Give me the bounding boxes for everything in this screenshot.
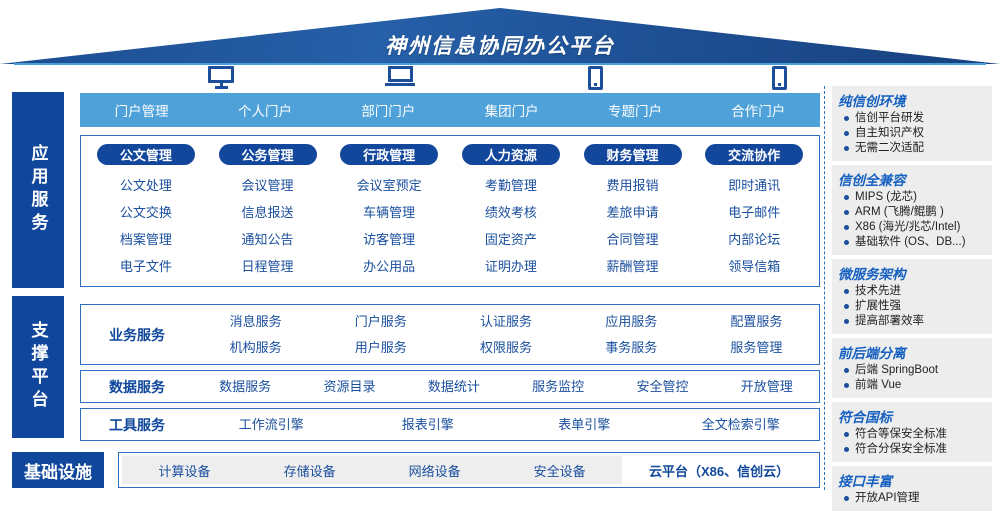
highlight-block: 微服务架构技术先进扩展性强提高部署效率 [832,259,992,334]
device-icon-row [80,64,820,91]
service-item[interactable]: 数据服务 [193,372,297,402]
module-item[interactable]: 领导信箱 [728,253,780,280]
highlight-list-item: MIPS (龙芯) [838,190,986,205]
bullet-dot-icon [844,383,849,388]
highlight-block: 纯信创环境信创平台研发自主知识产权无需二次适配 [832,86,992,161]
service-item[interactable]: 认证服务 [443,309,568,335]
service-item[interactable]: 服务监控 [506,372,610,402]
service-item[interactable]: 开放管理 [715,372,819,402]
highlight-list-item: 提高部署效率 [838,314,986,329]
rail-application-services: 应用服务 [12,92,64,288]
highlight-item-label: X86 (海光/兆芯/Intel) [855,220,960,235]
rail-support-platform: 支撑平台 [12,296,64,438]
module-item[interactable]: 公文交换 [120,199,172,226]
bullet-dot-icon [844,116,849,121]
module-item[interactable]: 会议管理 [242,172,294,199]
module-item[interactable]: 通知公告 [242,226,294,253]
highlight-list-item: 技术先进 [838,284,986,299]
highlight-list-item: 符合等保安全标准 [838,427,986,442]
bullet-dot-icon [844,240,849,245]
portal-bar: 门户管理个人门户部门门户集团门户专题门户合作门户 [80,93,820,127]
bullet-dot-icon [844,432,849,437]
highlight-item-label: 符合等保安全标准 [855,427,947,442]
infrastructure-cloud-platform[interactable]: 云平台（X86、信创云） [622,456,816,484]
business-service-row: 业务服务 消息服务门户服务认证服务应用服务配置服务机构服务用户服务权限服务事务服… [80,304,820,365]
highlight-item-label: ARM (飞腾/鲲鹏 ) [855,205,944,220]
module-column: 财务管理费用报销差旅申请合同管理薪酬管理 [572,144,694,280]
data-service-row: 数据服务 数据服务资源目录数据统计服务监控安全管控开放管理 [80,370,820,403]
page-title: 神州信息协同办公平台 [0,30,1000,60]
highlight-item-label: 技术先进 [855,284,901,299]
highlight-block: 前后端分离后端 SpringBoot前端 Vue [832,338,992,398]
highlight-title: 纯信创环境 [838,90,986,110]
highlight-list-item: 扩展性强 [838,299,986,314]
tablet-icon [588,66,603,90]
highlight-title: 微服务架构 [838,263,986,283]
highlight-block: 信创全兼容MIPS (龙芯)ARM (飞腾/鲲鹏 )X86 (海光/兆芯/Int… [832,165,992,255]
module-column: 交流协作即时通讯电子邮件内部论坛领导信箱 [693,144,815,280]
module-item[interactable]: 证明办理 [485,253,537,280]
feature-highlights-panel: 纯信创环境信创平台研发自主知识产权无需二次适配信创全兼容MIPS (龙芯)ARM… [832,86,992,490]
portal-item-1[interactable]: 个人门户 [203,100,326,120]
service-item[interactable]: 配置服务 [694,309,819,335]
module-item[interactable]: 内部论坛 [728,226,780,253]
highlight-item-label: MIPS (龙芯) [855,190,917,205]
highlight-list-item: 符合分保安全标准 [838,442,986,457]
bullet-dot-icon [844,368,849,373]
highlight-item-label: 符合分保安全标准 [855,442,947,457]
infrastructure-row: 计算设备存储设备网络设备安全设备云平台（X86、信创云） [118,452,820,488]
service-item[interactable]: 门户服务 [318,309,443,335]
bullet-dot-icon [844,210,849,215]
module-title-pill[interactable]: 人力资源 [462,144,560,165]
bullet-dot-icon [844,225,849,230]
module-item[interactable]: 访客管理 [363,226,415,253]
service-row: 数据服务资源目录数据统计服务监控安全管控开放管理 [193,372,819,402]
bullet-dot-icon [844,304,849,309]
highlight-item-label: 基础软件 (OS、DB...) [855,235,966,250]
highlight-list-item: 自主知识产权 [838,126,986,141]
module-item[interactable]: 电子邮件 [728,199,780,226]
module-column: 公务管理会议管理信息报送通知公告日程管理 [207,144,329,280]
highlight-title: 前后端分离 [838,342,986,362]
highlight-item-label: 后端 SpringBoot [855,363,938,378]
module-item[interactable]: 费用报销 [607,172,659,199]
highlight-list-item: 基础软件 (OS、DB...) [838,235,986,250]
service-row: 消息服务门户服务认证服务应用服务配置服务 [193,309,819,335]
business-service-label: 业务服务 [81,325,193,345]
infrastructure-item[interactable]: 存储设备 [247,461,372,480]
header-banner: 神州信息协同办公平台 [0,8,1000,64]
desktop-monitor-icon [208,66,234,89]
data-service-items: 数据服务资源目录数据统计服务监控安全管控开放管理 [193,372,819,402]
infrastructure-item[interactable]: 计算设备 [122,461,247,480]
highlight-item-label: 自主知识产权 [855,126,924,141]
module-title-pill[interactable]: 公务管理 [219,144,317,165]
service-item[interactable]: 应用服务 [569,309,694,335]
rail-infrastructure: 基础设施 [12,452,104,488]
module-item[interactable]: 考勤管理 [485,172,537,199]
service-row: 工作流引擎报表引擎表单引擎全文检索引擎 [193,410,819,440]
highlight-block: 符合国标符合等保安全标准符合分保安全标准 [832,402,992,462]
service-item[interactable]: 事务服务 [569,335,694,361]
bullet-dot-icon [844,131,849,136]
service-item[interactable]: 工作流引擎 [193,410,350,440]
rail-infrastructure-label: 基础设施 [24,458,92,483]
highlight-item-label: 信创平台研发 [855,111,924,126]
data-service-label: 数据服务 [81,377,193,397]
service-item[interactable]: 消息服务 [193,309,318,335]
module-item[interactable]: 固定资产 [485,226,537,253]
highlight-list-item: X86 (海光/兆芯/Intel) [838,220,986,235]
highlight-list-item: 后端 SpringBoot [838,363,986,378]
service-item[interactable]: 数据统计 [402,372,506,402]
service-item[interactable]: 用户服务 [318,335,443,361]
bullet-dot-icon [844,146,849,151]
infrastructure-items: 计算设备存储设备网络设备安全设备云平台（X86、信创云） [122,456,816,484]
module-item[interactable]: 电子文件 [120,253,172,280]
bullet-dot-icon [844,496,849,501]
portal-item-3[interactable]: 集团门户 [450,100,573,120]
bullet-dot-icon [844,195,849,200]
highlight-title: 信创全兼容 [838,169,986,189]
mobile-phone-icon [772,66,787,90]
portal-item-5[interactable]: 合作门户 [697,100,820,120]
portal-item-0[interactable]: 门户管理 [80,100,203,120]
tool-service-row: 工具服务 工作流引擎报表引擎表单引擎全文检索引擎 [80,408,820,441]
service-item[interactable]: 权限服务 [443,335,568,361]
highlight-list-item: 信创平台研发 [838,111,986,126]
highlight-list-item: ARM (飞腾/鲲鹏 ) [838,205,986,220]
application-module-grid: 公文管理公文处理公文交换档案管理电子文件公务管理会议管理信息报送通知公告日程管理… [80,135,820,287]
module-title-pill[interactable]: 行政管理 [340,144,438,165]
module-column: 人力资源考勤管理绩效考核固定资产证明办理 [450,144,572,280]
highlight-item-label: 扩展性强 [855,299,901,314]
highlight-item-label: 提高部署效率 [855,314,924,329]
module-item[interactable]: 即时通讯 [728,172,780,199]
highlight-block: 接口丰富开放API管理 [832,466,992,511]
module-item[interactable]: 日程管理 [242,253,294,280]
infrastructure-item[interactable]: 网络设备 [372,461,497,480]
portal-item-4[interactable]: 专题门户 [573,100,696,120]
service-row: 机构服务用户服务权限服务事务服务服务管理 [193,335,819,361]
highlight-list-item: 开放API管理 [838,491,986,506]
service-item[interactable]: 表单引擎 [506,410,663,440]
service-item[interactable]: 服务管理 [694,335,819,361]
tool-service-label: 工具服务 [81,415,193,435]
module-title-pill[interactable]: 财务管理 [584,144,682,165]
module-item[interactable]: 绩效考核 [485,199,537,226]
module-item[interactable]: 合同管理 [607,226,659,253]
module-title-pill[interactable]: 公文管理 [97,144,195,165]
highlight-list-item: 前端 Vue [838,378,986,393]
module-item[interactable]: 薪酬管理 [607,253,659,280]
module-column: 公文管理公文处理公文交换档案管理电子文件 [85,144,207,280]
highlight-item-label: 开放API管理 [855,491,920,506]
highlight-list-item: 无需二次适配 [838,141,986,156]
portal-item-2[interactable]: 部门门户 [327,100,450,120]
bullet-dot-icon [844,447,849,452]
highlight-item-label: 前端 Vue [855,378,901,393]
bullet-dot-icon [844,319,849,324]
module-item[interactable]: 会议室预定 [357,172,422,199]
highlight-title: 符合国标 [838,406,986,426]
business-service-items: 消息服务门户服务认证服务应用服务配置服务机构服务用户服务权限服务事务服务服务管理 [193,309,819,361]
module-item[interactable]: 公文处理 [120,172,172,199]
infrastructure-item[interactable]: 安全设备 [497,461,622,480]
module-item[interactable]: 档案管理 [120,226,172,253]
service-item[interactable]: 安全管控 [610,372,714,402]
service-item[interactable]: 机构服务 [193,335,318,361]
service-item[interactable]: 资源目录 [297,372,401,402]
bullet-dot-icon [844,289,849,294]
laptop-icon [385,66,415,89]
rail-application-label: 应用服务 [26,144,51,236]
panel-divider [824,86,825,490]
module-item[interactable]: 信息报送 [242,199,294,226]
highlight-item-label: 无需二次适配 [855,141,924,156]
module-title-pill[interactable]: 交流协作 [705,144,803,165]
tool-service-items: 工作流引擎报表引擎表单引擎全文检索引擎 [193,410,819,440]
module-column: 行政管理会议室预定车辆管理访客管理办公用品 [328,144,450,280]
module-item[interactable]: 车辆管理 [363,199,415,226]
rail-support-label: 支撑平台 [26,321,51,413]
highlight-title: 接口丰富 [838,470,986,490]
module-item[interactable]: 办公用品 [363,253,415,280]
service-item[interactable]: 全文检索引擎 [663,410,820,440]
module-item[interactable]: 差旅申请 [607,199,659,226]
service-item[interactable]: 报表引擎 [350,410,507,440]
